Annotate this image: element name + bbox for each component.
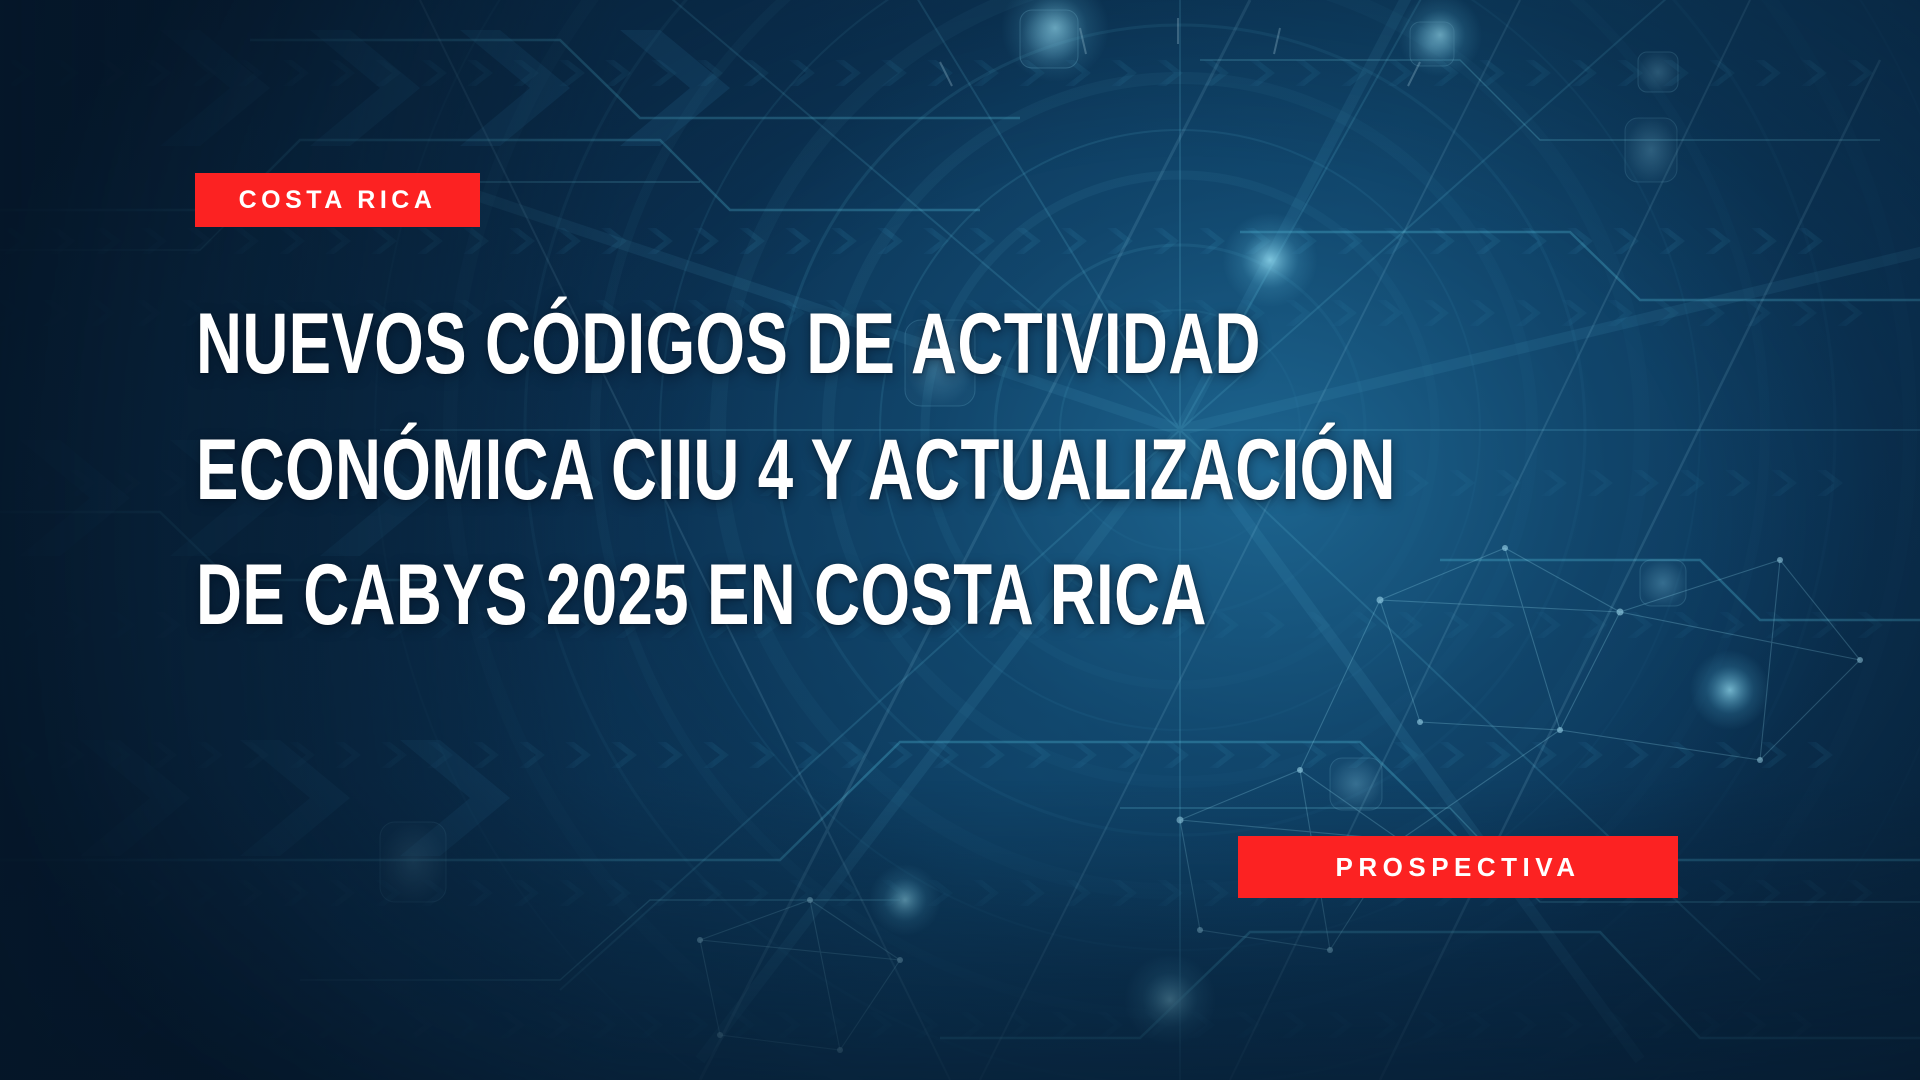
location-badge: COSTA RICA [195, 173, 480, 227]
poster-content: COSTA RICA NUEVOS CÓDIGOS DE ACTIVIDAD E… [0, 0, 1920, 1080]
title-line-3: DE CABYS 2025 EN COSTA RICA [196, 533, 1321, 659]
title-line-2: ECONÓMICA CIIU 4 Y ACTUALIZACIÓN [196, 408, 1321, 534]
title-line-1: NUEVOS CÓDIGOS DE ACTIVIDAD [196, 282, 1321, 408]
category-badge: PROSPECTIVA [1238, 836, 1678, 898]
poster-canvas: COSTA RICA NUEVOS CÓDIGOS DE ACTIVIDAD E… [0, 0, 1920, 1080]
page-title: NUEVOS CÓDIGOS DE ACTIVIDAD ECONÓMICA CI… [196, 282, 1321, 659]
